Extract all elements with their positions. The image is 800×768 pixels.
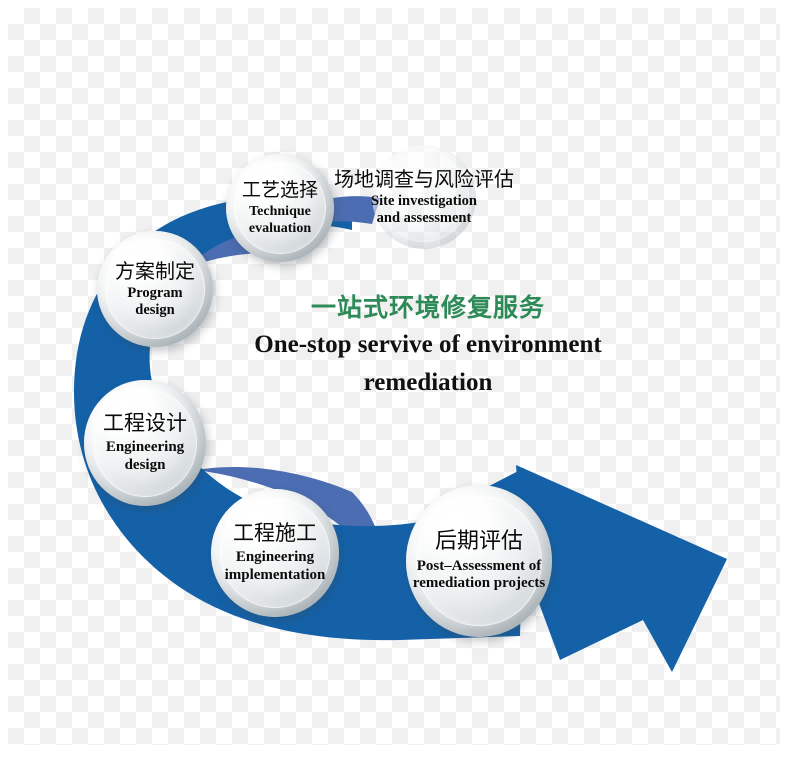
step-label-cn: 工程设计 [103,412,187,436]
step-bubble-engineering-design[interactable]: 工程设计 Engineering design [84,380,206,506]
artboard: 场地调查与风险评估 Site investigation and assessm… [0,0,800,768]
step-label-en-2: and assessment [334,210,514,226]
step-label-cn: 场地调查与风险评估 [334,168,514,190]
step-label-cn: 工程施工 [225,522,326,546]
headline-block: 一站式环境修复服务 One-stop servive of environmen… [238,292,618,399]
step-label-cn: 工艺选择 [242,180,318,201]
headline-english-line1: One-stop servive of environment [238,328,618,361]
step-bubble-site-investigation[interactable]: 场地调查与风险评估 Site investigation and assessm… [372,145,476,249]
step-label-en-2: design [115,302,195,318]
headline-chinese: 一站式环境修复服务 [238,292,618,323]
step-label-technique-evaluation: 工艺选择 Technique evaluation [242,180,318,237]
step-bubble-engineering-implementation[interactable]: 工程施工 Engineering implementation [211,489,339,617]
step-label-en-2: design [103,457,187,474]
step-label-en-2: evaluation [242,221,318,237]
step-label-en-1: Technique [242,204,318,220]
step-label-cn: 方案制定 [115,260,195,282]
step-label-program-design: 方案制定 Program design [115,260,195,319]
step-bubble-technique-evaluation[interactable]: 工艺选择 Technique evaluation [226,154,334,262]
step-label-site-investigation: 场地调查与风险评估 Site investigation and assessm… [334,168,514,227]
step-label-en-2: implementation [225,567,326,584]
step-label-engineering-design: 工程设计 Engineering design [103,412,187,473]
step-label-en-1: Program [115,285,195,301]
step-label-cn: 后期评估 [413,530,545,555]
diagram-canvas: 场地调查与风险评估 Site investigation and assessm… [0,0,800,768]
step-label-en-1: Site investigation [334,193,514,209]
step-label-en-2: remediation projects [413,575,545,592]
step-label-engineering-implementation: 工程施工 Engineering implementation [225,522,326,583]
step-bubble-post-assessment[interactable]: 后期评估 Post–Assessment of remediation proj… [406,485,552,637]
headline-english-line2: remediation [238,366,618,399]
step-label-en-1: Post–Assessment of [413,558,545,575]
step-bubble-program-design[interactable]: 方案制定 Program design [97,231,213,347]
step-label-en-1: Engineering [225,549,326,566]
step-label-en-1: Engineering [103,439,187,456]
step-label-post-assessment: 后期评估 Post–Assessment of remediation proj… [413,530,545,592]
